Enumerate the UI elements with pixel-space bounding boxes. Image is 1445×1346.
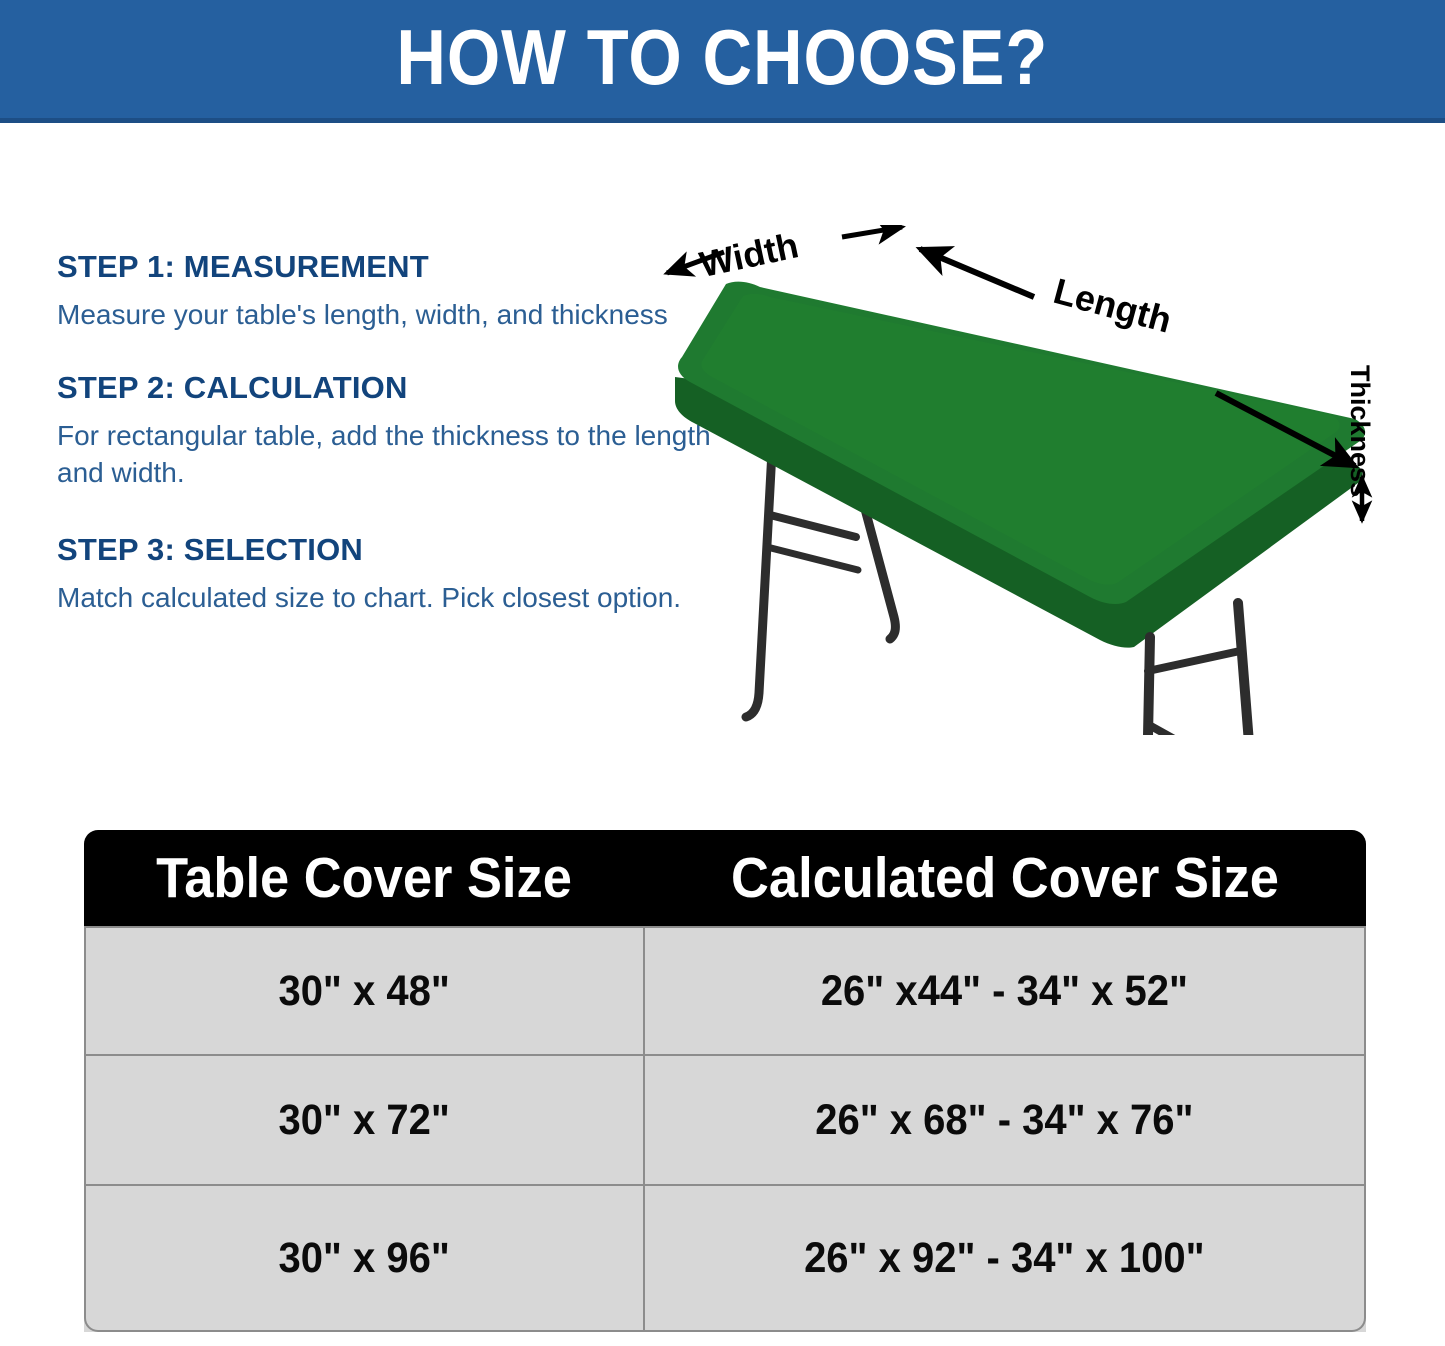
step-1-body: Measure your table's length, width, and … <box>57 296 717 333</box>
size-chart-header-row: Table Cover Size Calculated Cover Size <box>84 830 1366 926</box>
cell-text: 26" x 68" - 34" x 76" <box>815 1097 1193 1143</box>
column-header-table-cover-size: Table Cover Size <box>106 848 621 908</box>
table-row: 30" x 96" 26" x 92" - 34" x 100" <box>84 1186 1366 1332</box>
cell-calculated-cover-size: 26" x 92" - 34" x 100" <box>644 1186 1366 1332</box>
cell-text: 30" x 48" <box>279 968 450 1014</box>
page-header-banner: HOW TO CHOOSE? <box>0 0 1445 118</box>
cell-calculated-cover-size: 26" x44" - 34" x 52" <box>644 926 1366 1056</box>
thickness-label: Thickness <box>1344 365 1375 497</box>
cell-calculated-cover-size: 26" x 68" - 34" x 76" <box>644 1056 1366 1186</box>
table-row: 30" x 72" 26" x 68" - 34" x 76" <box>84 1056 1366 1186</box>
size-chart-table: Table Cover Size Calculated Cover Size 3… <box>84 830 1366 1332</box>
cell-table-cover-size: 30" x 48" <box>84 926 644 1056</box>
table-row: 30" x 48" 26" x44" - 34" x 52" <box>84 926 1366 1056</box>
cell-text: 26" x 92" - 34" x 100" <box>804 1235 1204 1281</box>
cell-text: 30" x 96" <box>279 1235 450 1281</box>
column-header-calculated-cover-size: Calculated Cover Size <box>673 848 1337 908</box>
table-drawing-svg <box>620 225 1420 735</box>
page-title: HOW TO CHOOSE? <box>397 18 1049 96</box>
cell-text: 26" x44" - 34" x 52" <box>821 968 1188 1014</box>
folding-table-illustration: Width Length Thickness <box>620 225 1420 735</box>
cell-text: 30" x 72" <box>279 1097 450 1143</box>
banner-underline-divider <box>0 118 1445 123</box>
cell-table-cover-size: 30" x 72" <box>84 1056 644 1186</box>
cell-table-cover-size: 30" x 96" <box>84 1186 644 1332</box>
